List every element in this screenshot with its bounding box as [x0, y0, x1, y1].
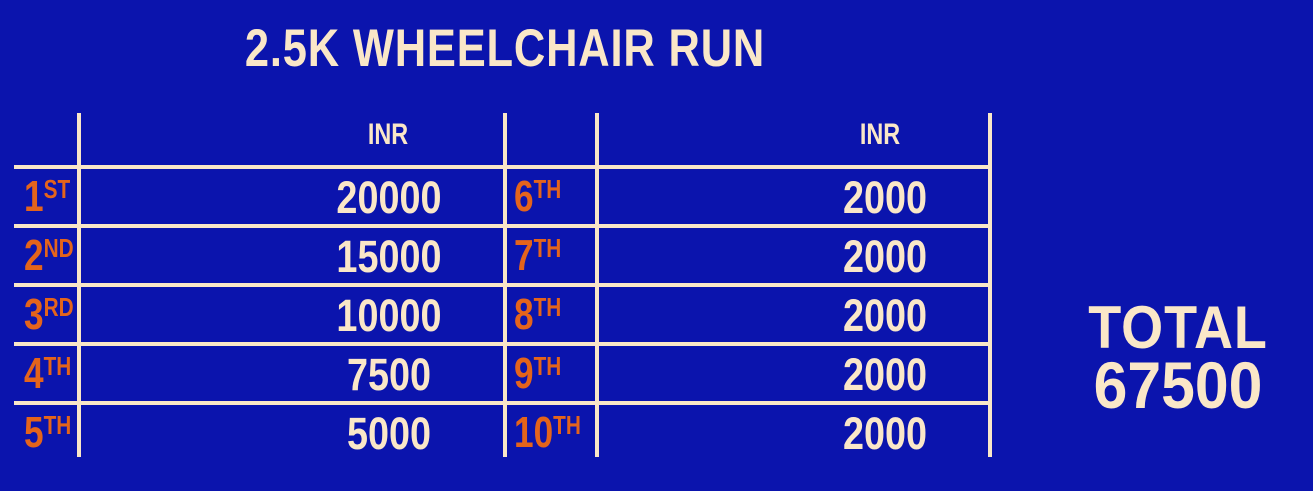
currency-header-left: INR	[330, 120, 447, 150]
table-row-amount-right: 2000	[751, 234, 1020, 279]
horizontal-divider-row-3	[14, 342, 992, 346]
prize-money-table: INR INR 1ST 20000 2ND 15000 3RD 10000 4T…	[14, 113, 992, 457]
rank-suffix: ND	[44, 233, 74, 263]
rank-suffix: ST	[44, 174, 71, 204]
table-row-amount-right: 2000	[751, 293, 1020, 338]
table-row-rank-right: 6TH	[514, 175, 561, 219]
horizontal-divider-header	[14, 165, 992, 169]
total-value: 67500	[1068, 355, 1289, 416]
table-row-amount-left: 15000	[255, 234, 524, 279]
total-block: TOTAL 67500	[1058, 300, 1298, 416]
table-row-amount-left: 20000	[255, 175, 524, 220]
currency-header-right: INR	[822, 120, 939, 150]
rank-number: 2	[24, 231, 44, 280]
table-row-amount-left: 7500	[255, 352, 524, 397]
table-row-amount-left: 5000	[255, 411, 524, 456]
rank-suffix: TH	[534, 351, 562, 381]
rank-suffix: TH	[553, 410, 581, 440]
rank-suffix: RD	[44, 292, 74, 322]
rank-number: 1	[24, 172, 44, 221]
table-row-rank-right: 8TH	[514, 293, 561, 337]
table-row-rank-left: 4TH	[24, 352, 71, 396]
page-title: 2.5K WHEELCHAIR RUN	[91, 22, 919, 75]
table-row-rank-right: 10TH	[514, 411, 581, 455]
rank-suffix: TH	[534, 233, 562, 263]
rank-suffix: TH	[534, 174, 562, 204]
table-gridlines	[14, 113, 992, 457]
table-row-amount-right: 2000	[751, 411, 1020, 456]
table-row-rank-right: 7TH	[514, 234, 561, 278]
total-label: TOTAL	[1070, 300, 1286, 355]
rank-suffix: TH	[534, 292, 562, 322]
table-row-rank-left: 3RD	[24, 293, 74, 337]
rank-number: 7	[514, 231, 534, 280]
table-row-rank-left: 5TH	[24, 411, 71, 455]
horizontal-divider-row-2	[14, 283, 992, 287]
rank-number: 8	[514, 290, 534, 339]
rank-number: 6	[514, 172, 534, 221]
rank-suffix: TH	[44, 410, 72, 440]
rank-number: 4	[24, 349, 44, 398]
horizontal-divider-row-1	[14, 224, 992, 228]
table-row-rank-left: 2ND	[24, 234, 74, 278]
rank-number: 3	[24, 290, 44, 339]
horizontal-divider-row-4	[14, 401, 992, 405]
table-row-rank-right: 9TH	[514, 352, 561, 396]
table-row-amount-right: 2000	[751, 175, 1020, 220]
table-row-amount-right: 2000	[751, 352, 1020, 397]
rank-suffix: TH	[44, 351, 72, 381]
table-row-rank-left: 1ST	[24, 175, 70, 219]
rank-number: 9	[514, 349, 534, 398]
rank-number: 5	[24, 408, 44, 457]
table-row-amount-left: 10000	[255, 293, 524, 338]
rank-number: 10	[514, 408, 553, 457]
